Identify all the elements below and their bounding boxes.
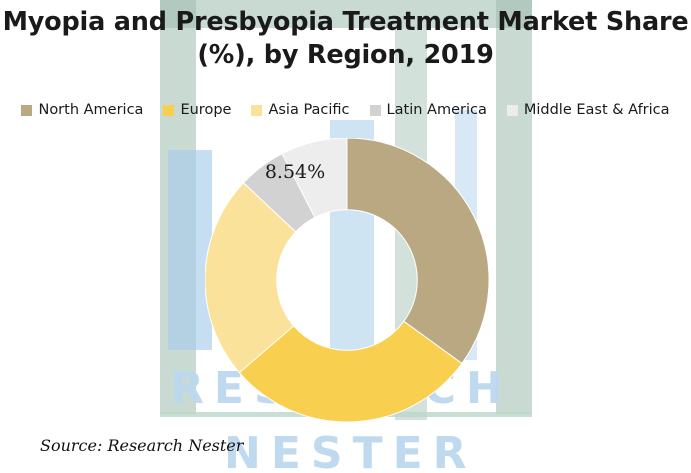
legend-item-label: North America xyxy=(38,102,143,118)
chart-title: Myopia and Presbyopia Treatment Market S… xyxy=(0,6,691,72)
donut-chart: 8.54% xyxy=(205,138,489,422)
legend-item-label: Asia Pacific xyxy=(268,102,349,118)
slice-value-label: 8.54% xyxy=(265,161,325,183)
chart-title-line-2: (%), by Region, 2019 xyxy=(0,39,691,72)
chart-canvas: RESEARCH NESTER Myopia and Presbyopia Tr… xyxy=(0,0,691,473)
legend-item[interactable]: Europe xyxy=(163,102,231,118)
legend-item[interactable]: Latin America xyxy=(370,102,487,118)
source-note: Source: Research Nester xyxy=(40,436,243,455)
legend-item-label: Latin America xyxy=(387,102,487,118)
legend-swatch-icon xyxy=(163,105,174,116)
chart-legend: North AmericaEuropeAsia PacificLatin Ame… xyxy=(0,102,691,118)
legend-item[interactable]: Asia Pacific xyxy=(251,102,349,118)
legend-item-label: Europe xyxy=(180,102,231,118)
chart-title-line-1: Myopia and Presbyopia Treatment Market S… xyxy=(0,6,691,39)
legend-item[interactable]: North America xyxy=(21,102,143,118)
legend-swatch-icon xyxy=(251,105,262,116)
donut-chart-svg: 8.54% xyxy=(205,138,489,422)
watermark-text-nester: NESTER xyxy=(224,428,477,473)
legend-item-label: Middle East & Africa xyxy=(524,102,670,118)
legend-swatch-icon xyxy=(21,105,32,116)
legend-item[interactable]: Middle East & Africa xyxy=(507,102,670,118)
donut-slice[interactable] xyxy=(347,138,489,363)
legend-swatch-icon xyxy=(370,105,381,116)
legend-swatch-icon xyxy=(507,105,518,116)
